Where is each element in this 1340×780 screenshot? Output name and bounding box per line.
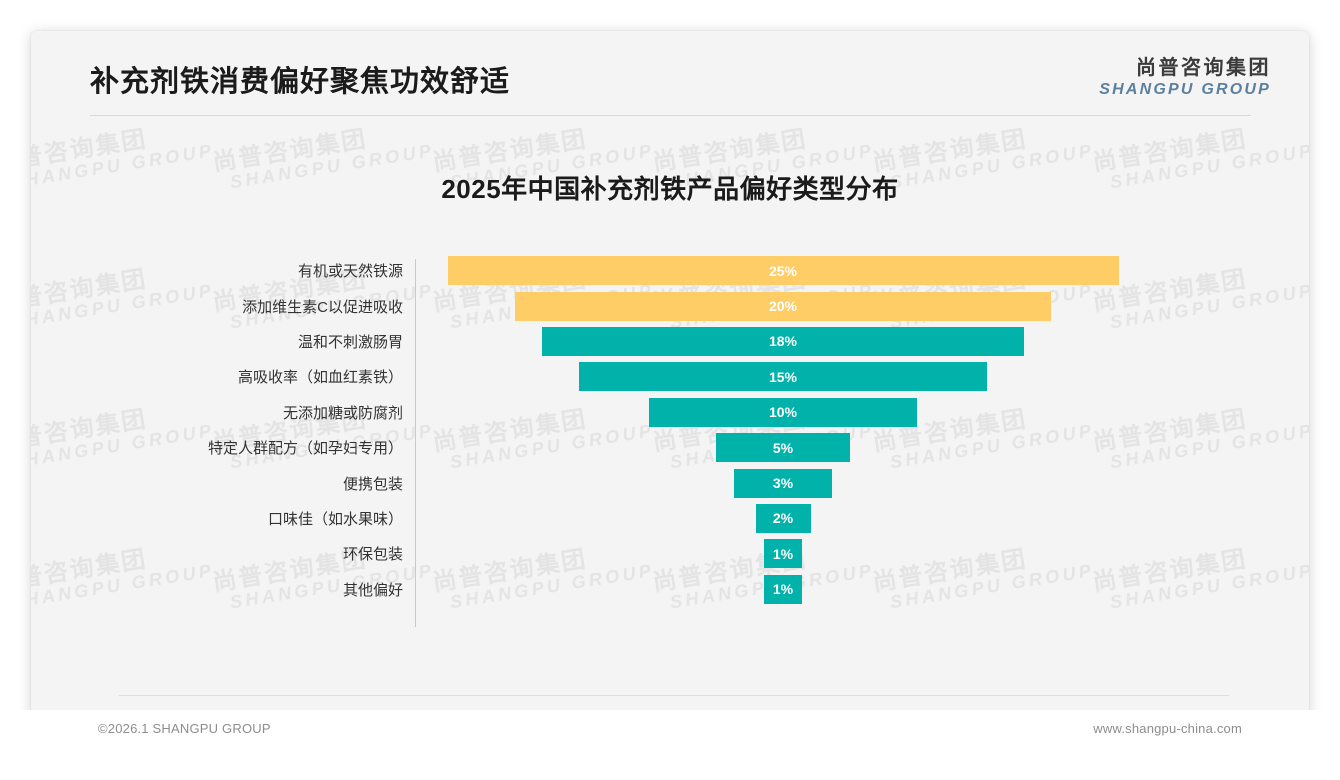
website-url[interactable]: www.shangpu-china.com <box>1093 721 1242 736</box>
chart-bar[interactable]: 1% <box>764 575 802 604</box>
chart-bar-value: 15% <box>769 369 797 385</box>
chart-bar-value: 10% <box>769 404 797 420</box>
watermark-cn: 尚普咨询集团 <box>431 117 653 176</box>
chart-category-label: 高吸收率（如血红素铁） <box>31 366 415 387</box>
slide-card: 尚普咨询集团SHANGPU GROUP尚普咨询集团SHANGPU GROUP尚普… <box>31 31 1309 749</box>
chart-row: 无添加糖或防腐剂10% <box>31 395 1309 430</box>
chart-bar-track: 3% <box>415 465 1309 500</box>
header-divider <box>90 115 1251 116</box>
chart-category-label: 环保包装 <box>31 543 415 564</box>
funnel-bar-chart: 有机或天然铁源25%添加维生素C以促进吸收20%温和不刺激肠胃18%高吸收率（如… <box>31 253 1309 633</box>
chart-row: 口味佳（如水果味）2% <box>31 501 1309 536</box>
chart-row: 便携包装3% <box>31 465 1309 500</box>
slide-canvas: 尚普咨询集团SHANGPU GROUP尚普咨询集团SHANGPU GROUP尚普… <box>0 0 1340 780</box>
logo-text-en: SHANGPU GROUP <box>1099 81 1271 100</box>
chart-bar-track: 20% <box>415 288 1309 323</box>
page-title: 补充剂铁消费偏好聚焦功效舒适 <box>90 58 510 100</box>
chart-bar[interactable]: 5% <box>716 433 850 462</box>
chart-category-label: 其他偏好 <box>31 579 415 600</box>
chart-bar[interactable]: 20% <box>515 292 1051 321</box>
watermark-cn: 尚普咨询集团 <box>1091 117 1309 176</box>
chart-bar-value: 1% <box>773 546 793 562</box>
chart-row: 添加维生素C以促进吸收20% <box>31 288 1309 323</box>
chart-title: 2025年中国补充剂铁产品偏好类型分布 <box>31 169 1309 206</box>
chart-bar-track: 2% <box>415 501 1309 536</box>
chart-category-label: 无添加糖或防腐剂 <box>31 402 415 423</box>
watermark-cn: 尚普咨询集团 <box>871 117 1093 176</box>
chart-bar[interactable]: 1% <box>764 539 802 568</box>
chart-bar-value: 25% <box>769 263 797 279</box>
chart-bar[interactable]: 10% <box>649 398 917 427</box>
chart-row: 高吸收率（如血红素铁）15% <box>31 359 1309 394</box>
chart-row: 环保包装1% <box>31 536 1309 571</box>
copyright-text: ©2026.1 SHANGPU GROUP <box>98 721 271 736</box>
slide-header: 补充剂铁消费偏好聚焦功效舒适 尚普咨询集团 SHANGPU GROUP <box>31 31 1309 117</box>
chart-bar[interactable]: 18% <box>542 327 1024 356</box>
chart-category-label: 温和不刺激肠胃 <box>31 331 415 352</box>
chart-bar-track: 5% <box>415 430 1309 465</box>
chart-bar-value: 3% <box>773 475 793 491</box>
chart-bar-value: 2% <box>773 510 793 526</box>
chart-bar-value: 20% <box>769 298 797 314</box>
logo-text-cn: 尚普咨询集团 <box>1099 57 1271 81</box>
chart-category-label: 口味佳（如水果味） <box>31 508 415 529</box>
chart-category-label: 便携包装 <box>31 473 415 494</box>
chart-bar[interactable]: 3% <box>734 469 832 498</box>
chart-bar[interactable]: 15% <box>579 362 987 391</box>
chart-bar-track: 1% <box>415 536 1309 571</box>
chart-row: 有机或天然铁源25% <box>31 253 1309 288</box>
chart-bar-value: 5% <box>773 440 793 456</box>
slide-footer: ©2026.1 SHANGPU GROUP www.shangpu-china.… <box>0 710 1340 780</box>
chart-bar-track: 1% <box>415 572 1309 607</box>
chart-category-label: 有机或天然铁源 <box>31 260 415 281</box>
chart-bar-value: 18% <box>769 333 797 349</box>
watermark-cn: 尚普咨询集团 <box>651 117 873 176</box>
chart-rows: 有机或天然铁源25%添加维生素C以促进吸收20%温和不刺激肠胃18%高吸收率（如… <box>31 253 1309 607</box>
chart-category-label: 添加维生素C以促进吸收 <box>31 296 415 317</box>
chart-row: 温和不刺激肠胃18% <box>31 324 1309 359</box>
watermark-cn: 尚普咨询集团 <box>211 117 433 176</box>
chart-bar-value: 1% <box>773 581 793 597</box>
chart-row: 其他偏好1% <box>31 572 1309 607</box>
chart-category-label: 特定人群配方（如孕妇专用） <box>31 437 415 458</box>
chart-bar-track: 10% <box>415 395 1309 430</box>
chart-bar-track: 25% <box>415 253 1309 288</box>
watermark-cn: 尚普咨询集团 <box>31 117 213 176</box>
chart-row: 特定人群配方（如孕妇专用）5% <box>31 430 1309 465</box>
chart-bar-track: 18% <box>415 324 1309 359</box>
company-logo: 尚普咨询集团 SHANGPU GROUP <box>1099 57 1271 99</box>
footnote-divider-top <box>119 695 1229 696</box>
chart-bar[interactable]: 25% <box>448 256 1119 285</box>
chart-bar-track: 15% <box>415 359 1309 394</box>
chart-bar[interactable]: 2% <box>756 504 811 533</box>
